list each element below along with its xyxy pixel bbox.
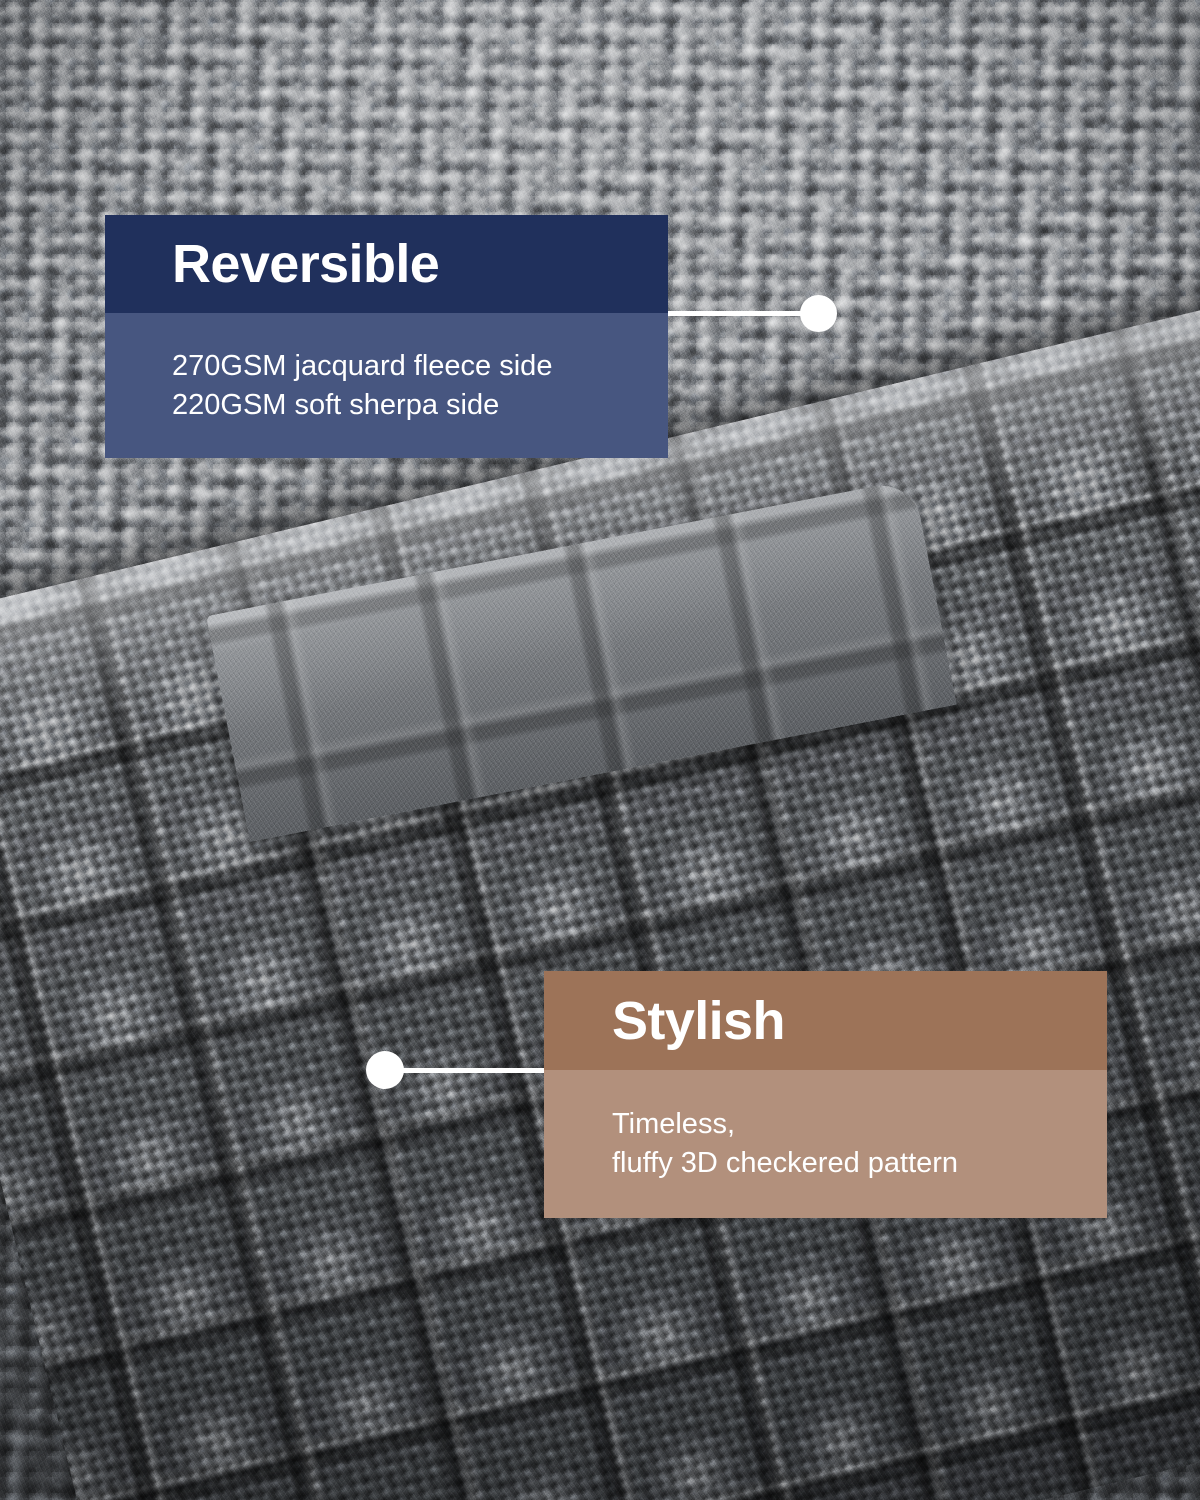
- leader-line-stylish: [402, 1068, 544, 1073]
- callout-stylish-line-1: Timeless,: [612, 1105, 1107, 1144]
- product-infographic: Reversible 270GSM jacquard fleece side 2…: [0, 0, 1200, 1500]
- callout-reversible: Reversible 270GSM jacquard fleece side 2…: [105, 215, 668, 458]
- callout-stylish-line-2: fluffy 3D checkered pattern: [612, 1144, 1107, 1183]
- callout-stylish-title: Stylish: [612, 994, 785, 1048]
- callout-stylish-header: Stylish: [544, 971, 1107, 1070]
- leader-dot-reversible: [800, 295, 837, 332]
- callout-reversible-line-1: 270GSM jacquard fleece side: [172, 347, 668, 386]
- leader-dot-stylish: [366, 1051, 404, 1089]
- callout-reversible-body: 270GSM jacquard fleece side 220GSM soft …: [105, 313, 668, 458]
- callout-stylish-body: Timeless, fluffy 3D checkered pattern: [544, 1070, 1107, 1218]
- callout-reversible-line-2: 220GSM soft sherpa side: [172, 386, 668, 425]
- leader-line-reversible: [668, 311, 801, 316]
- callout-reversible-title: Reversible: [172, 237, 439, 291]
- callout-stylish: Stylish Timeless, fluffy 3D checkered pa…: [544, 971, 1107, 1218]
- callout-reversible-header: Reversible: [105, 215, 668, 313]
